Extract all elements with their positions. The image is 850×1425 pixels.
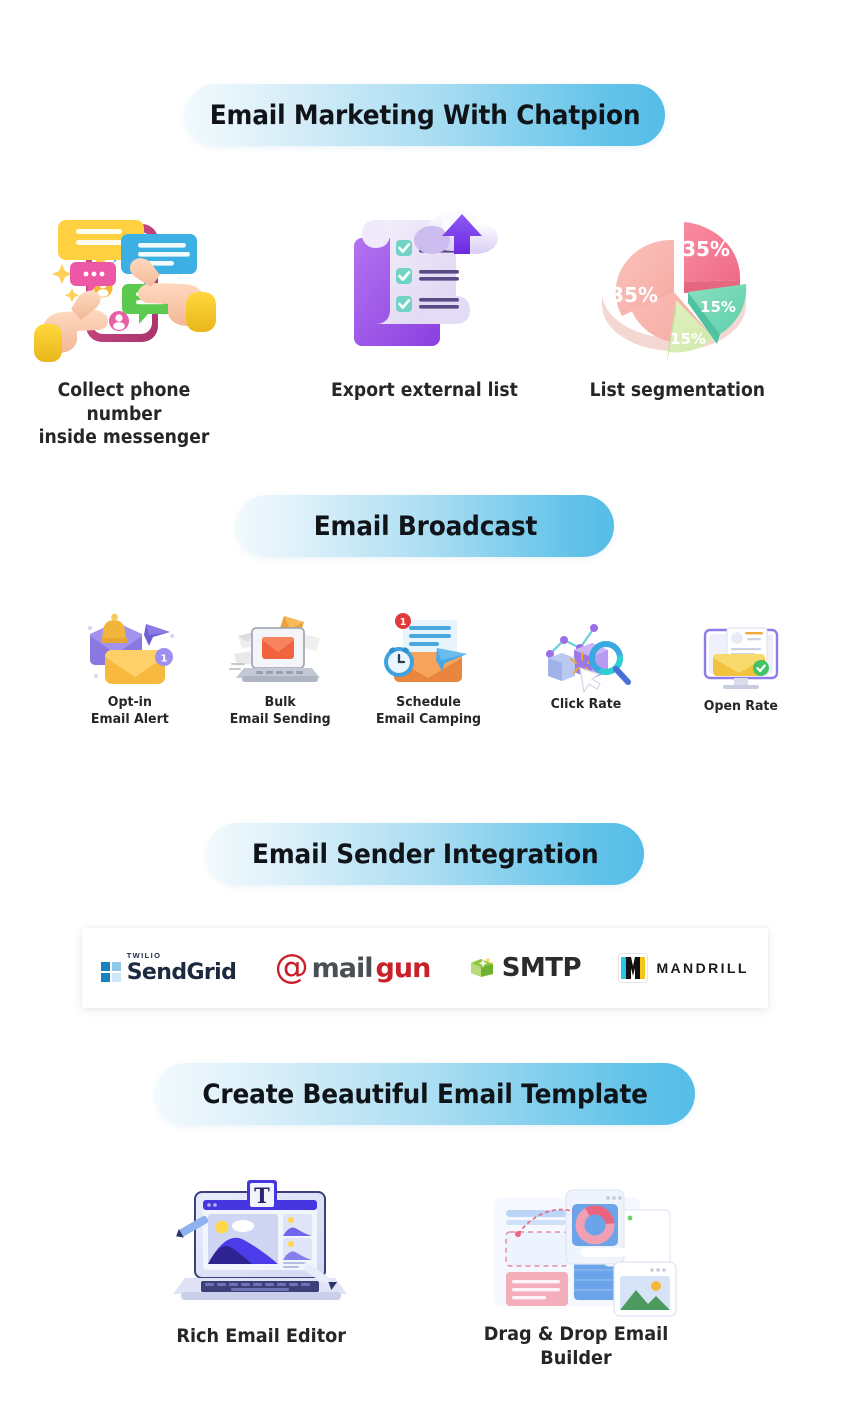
feature-export-external-list: Export external list [290, 196, 558, 403]
analytics-magnifier-cursor-icon [536, 618, 636, 692]
mandrill-wordmark: MANDRILL [656, 960, 748, 976]
laptop-mail-blast-icon [226, 612, 334, 690]
sendgrid-parent-brand: TWILIO [127, 952, 162, 960]
mailgun-at-icon: @ [275, 954, 309, 981]
monitor-open-envelope-icon [691, 622, 791, 694]
smtp-envelope-icon [469, 957, 495, 979]
section-title-email-broadcast: Email Broadcast [236, 495, 614, 557]
broadcast-caption: Opt-in Email Alert [91, 694, 169, 728]
checklist-cloud-upload-icon [324, 196, 524, 371]
broadcast-caption-line2: Email Alert [91, 711, 169, 728]
feature-caption-line1: Export external list [331, 379, 518, 403]
section-title-text: Email Broadcast [313, 511, 536, 542]
phone-chat-bubbles-icon [24, 196, 224, 371]
feature-caption-line1: List segmentation [589, 379, 764, 403]
broadcast-caption-line1: Open Rate [704, 698, 778, 715]
broadcast-caption-line1: Schedule [376, 694, 481, 711]
smtp-wordmark: SMTP [502, 953, 581, 983]
broadcast-item-click-rate: Click Rate [525, 618, 647, 713]
feature-list-segmentation: 35% 15% 15% 35% List segmentation [578, 196, 776, 403]
section-title-email-sender-integration: Email Sender Integration [206, 823, 644, 885]
section-title-text: Email Sender Integration [252, 839, 598, 870]
broadcast-caption-line1: Bulk [230, 694, 331, 711]
feature-caption: Collect phone number inside messenger [18, 379, 230, 450]
sendgrid-mark-icon [101, 962, 121, 982]
template-drag-drop-email-builder: Drag & Drop Email Builder [440, 1176, 712, 1371]
smtp-logo[interactable]: SMTP [469, 953, 581, 983]
mandrill-logo[interactable]: MANDRILL [619, 954, 748, 982]
mailgun-wordmark-dark: mail [312, 953, 373, 984]
section-title-text: Create Beautiful Email Template [202, 1079, 647, 1110]
section-title-text: Email Marketing With Chatpion [210, 100, 641, 131]
section-title-email-marketing: Email Marketing With Chatpion [185, 84, 665, 146]
mailgun-logo[interactable]: @ mail gun [275, 953, 431, 984]
broadcast-item-open-rate: Open Rate [680, 622, 802, 715]
broadcast-caption-line2: Email Camping [376, 711, 481, 728]
email-marketing-page: Email Marketing With Chatpion [0, 0, 850, 1425]
drag-drop-builder-icon [456, 1176, 696, 1316]
svg-text:35%: 35% [682, 237, 730, 261]
clock-envelope-icon: 1 [375, 612, 483, 690]
svg-text:1: 1 [400, 617, 407, 628]
broadcast-caption: Schedule Email Camping [376, 694, 481, 728]
envelope-bell-icon: 1 [76, 612, 184, 690]
svg-text:T: T [254, 1183, 270, 1208]
template-caption: Rich Email Editor [176, 1324, 346, 1348]
sendgrid-wordmark: SendGrid [127, 962, 237, 984]
laptop-text-editor-icon: T [161, 1178, 361, 1318]
template-rich-email-editor: T [150, 1178, 372, 1348]
section-title-create-beautiful-email-template: Create Beautiful Email Template [155, 1063, 695, 1125]
feature-caption: Export external list [331, 379, 518, 403]
feature-caption-line1: Collect phone number [18, 379, 230, 426]
broadcast-item-opt-in-email-alert: 1 Opt-in Email Alert [69, 612, 191, 728]
svg-text:15%: 15% [670, 330, 706, 348]
integration-logos-card: TWILIO SendGrid @ mail gun [82, 928, 768, 1008]
broadcast-caption-line1: Opt-in [91, 694, 169, 711]
pie-chart-icon: 35% 15% 15% 35% [582, 196, 772, 371]
template-caption: Drag & Drop Email Builder [450, 1322, 703, 1371]
svg-text:15%: 15% [700, 298, 736, 316]
svg-text:1: 1 [161, 654, 168, 665]
broadcast-caption-line1: Click Rate [551, 696, 622, 713]
broadcast-item-bulk-email-sending: Bulk Email Sending [219, 612, 341, 728]
feature-collect-phone-number: Collect phone number inside messenger [10, 196, 238, 450]
sendgrid-logo[interactable]: TWILIO SendGrid [101, 952, 236, 984]
feature-caption: List segmentation [589, 379, 764, 403]
mailgun-wordmark-accent: gun [376, 953, 431, 984]
broadcast-caption: Bulk Email Sending [230, 694, 331, 728]
broadcast-caption: Open Rate [704, 698, 778, 715]
svg-text:35%: 35% [610, 283, 658, 307]
broadcast-caption-line2: Email Sending [230, 711, 331, 728]
feature-caption-line2: inside messenger [18, 426, 230, 450]
broadcast-item-schedule-email-camping: 1 Schedule Email Camping [368, 612, 490, 728]
broadcast-caption: Click Rate [551, 696, 622, 713]
mandrill-mark-icon [619, 954, 647, 982]
